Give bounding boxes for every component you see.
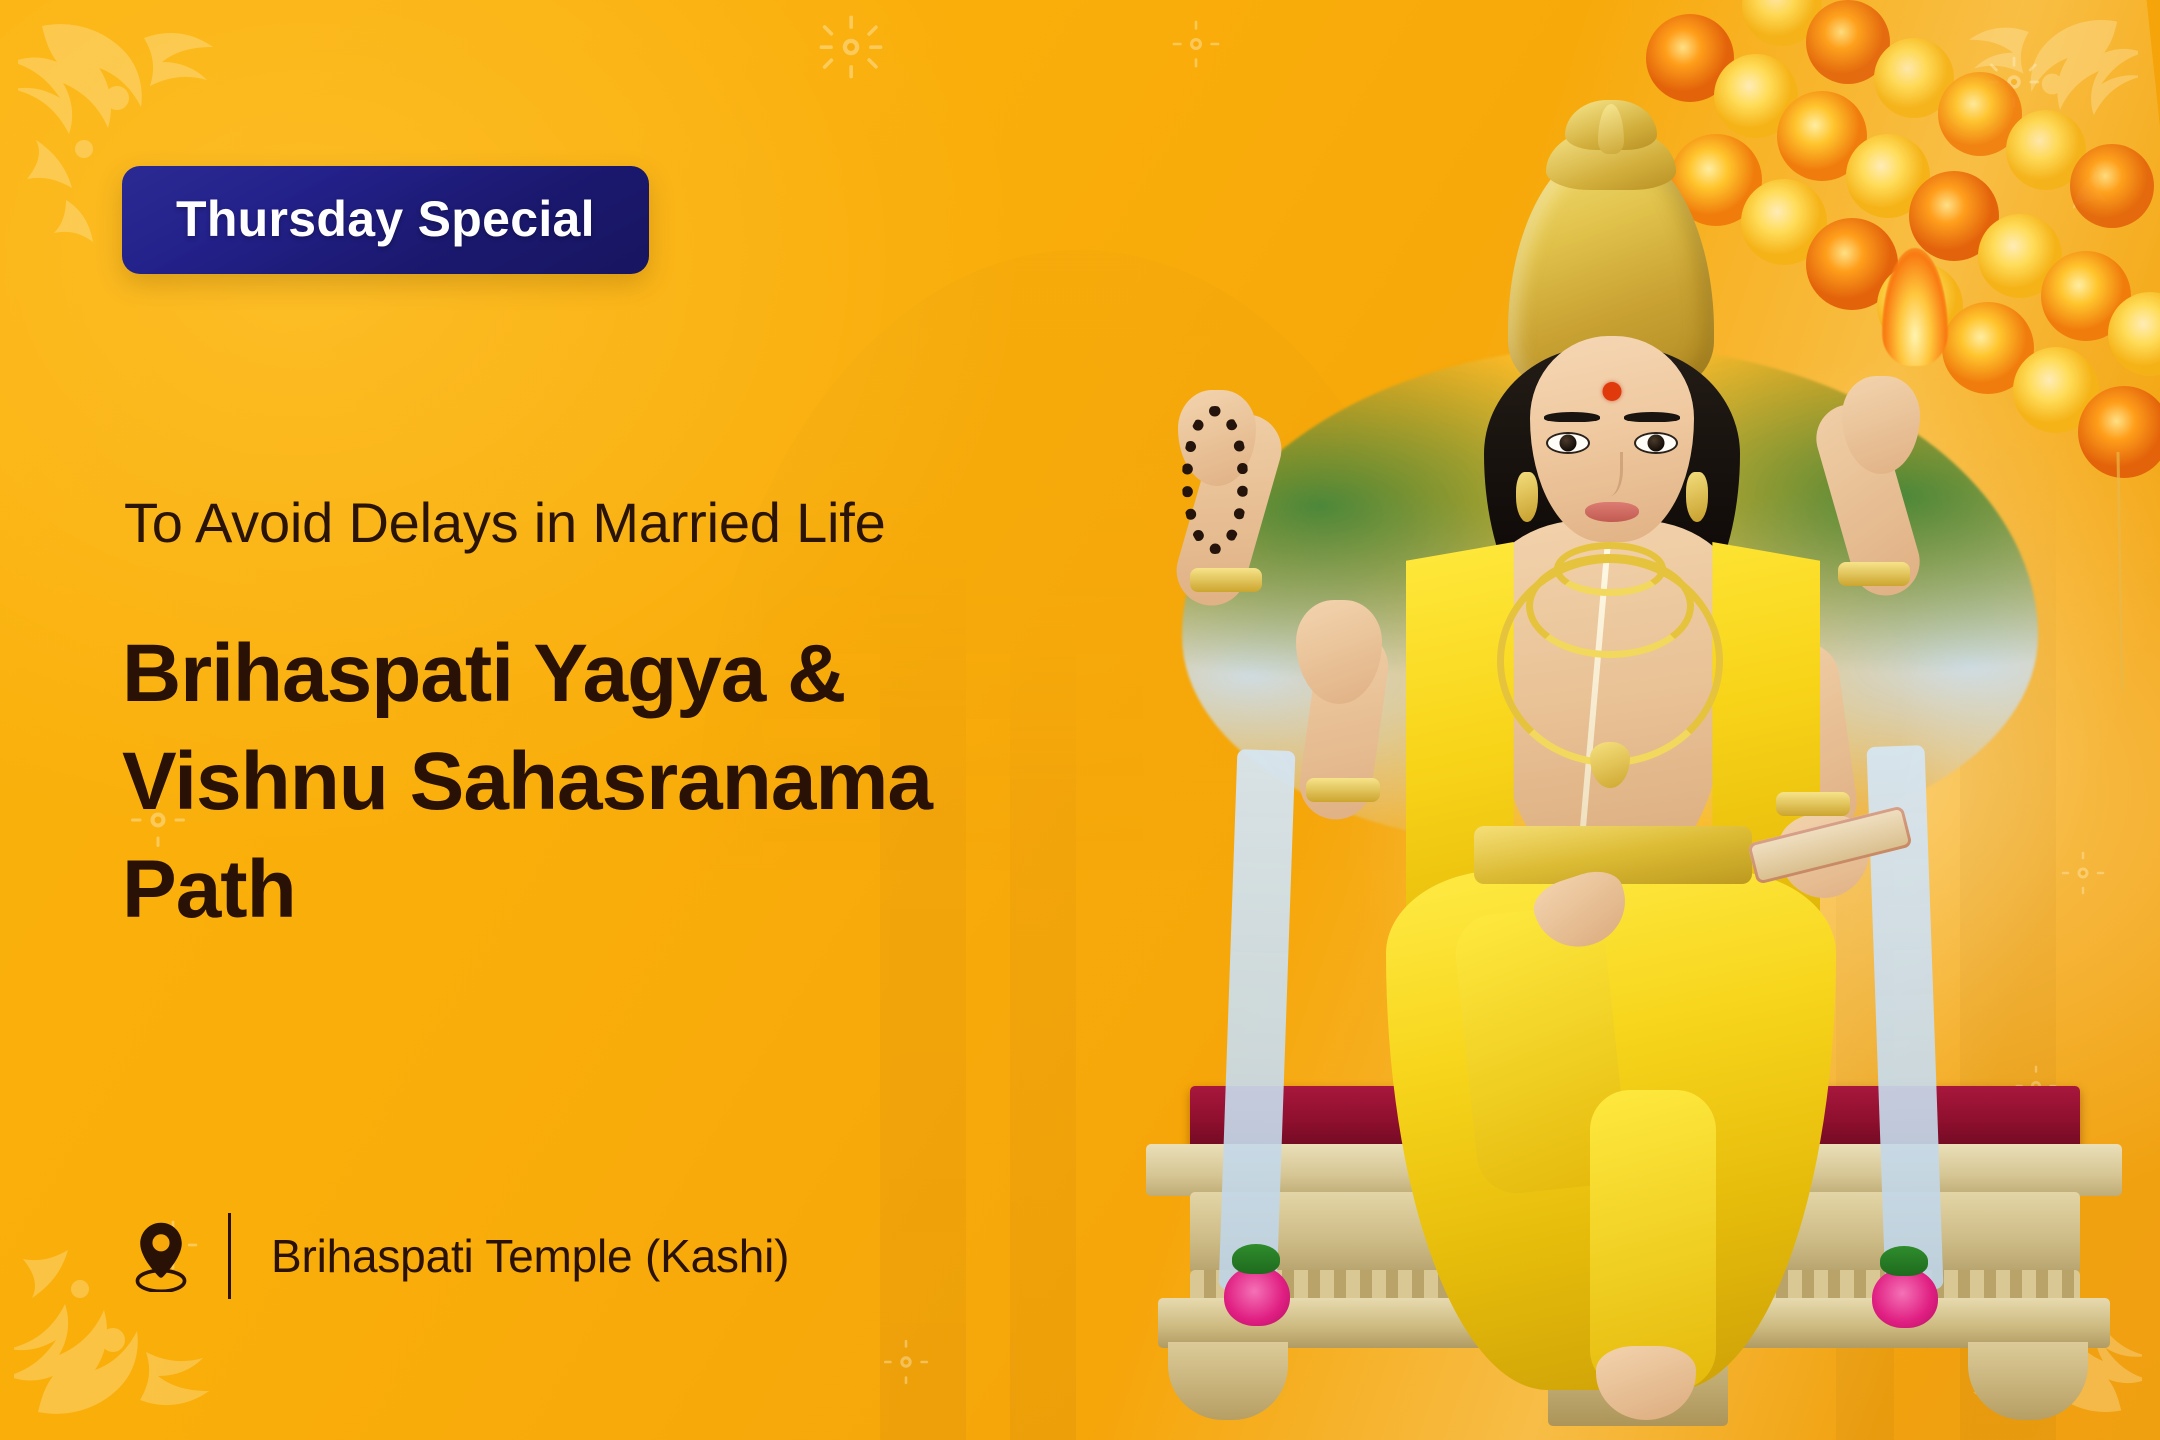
bangle	[1776, 792, 1850, 816]
page-title: Brihaspati Yagya & Vishnu Sahasranama Pa…	[122, 620, 1142, 945]
brihaspati-figure	[1290, 150, 1930, 1310]
divider	[228, 1213, 231, 1299]
bangle	[1306, 778, 1380, 802]
location-name: Brihaspati Temple (Kashi)	[271, 1229, 789, 1283]
location-row: Brihaspati Temple (Kashi)	[130, 1208, 789, 1304]
rudraksha-mala	[1182, 406, 1248, 554]
headline-line: Vishnu Sahasranama	[122, 728, 1142, 836]
bangle	[1838, 562, 1910, 586]
content-column: Thursday Special To Avoid Delays in Marr…	[122, 0, 1172, 1440]
earring	[1686, 472, 1708, 522]
headline-line: Brihaspati Yagya &	[122, 620, 1142, 728]
headline-line: Path	[122, 836, 1142, 944]
eye	[1634, 432, 1678, 454]
earring	[1516, 472, 1538, 522]
hanging-leg	[1590, 1090, 1716, 1390]
eye	[1546, 432, 1590, 454]
promotional-banner: Thursday Special To Avoid Delays in Marr…	[0, 0, 2160, 1440]
eyebrow-text: To Avoid Delays in Married Life	[124, 490, 886, 555]
badge-label: Thursday Special	[176, 194, 595, 244]
long-necklace	[1497, 556, 1723, 766]
tilak-bindi	[1603, 382, 1622, 401]
bangle	[1190, 568, 1262, 592]
deity-illustration	[1100, 0, 2160, 1440]
lotus-tassel-right	[1872, 1268, 1938, 1328]
map-pin-icon	[130, 1220, 192, 1292]
face	[1530, 336, 1694, 542]
lotus-tassel-left	[1224, 1266, 1290, 1326]
thursday-special-badge[interactable]: Thursday Special	[122, 166, 649, 274]
lips	[1585, 502, 1639, 522]
